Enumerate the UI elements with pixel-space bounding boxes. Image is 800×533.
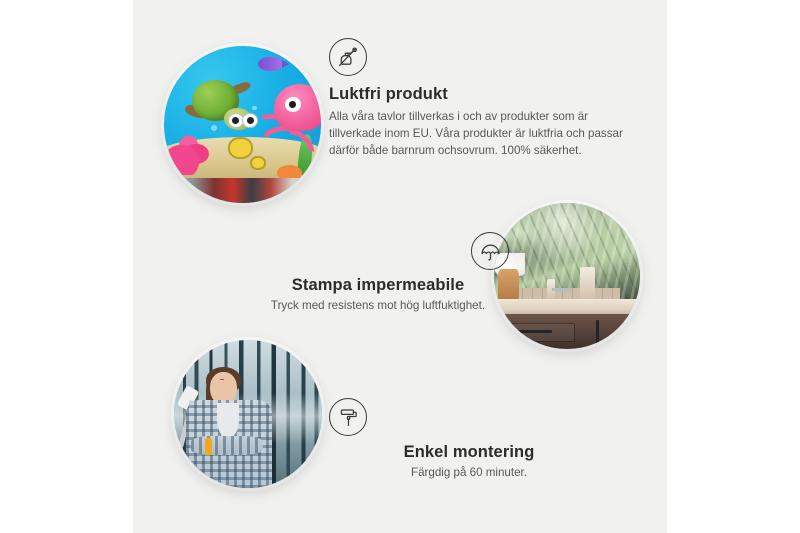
- shirt-collar: [217, 403, 239, 439]
- octopus-icon: [255, 84, 321, 156]
- woman-with-roller: [186, 370, 272, 488]
- crossed-arms: [191, 436, 263, 455]
- tool-grip: [205, 438, 212, 455]
- feature-odourless: Luktfri produkt Alla våra tavlor tillver…: [329, 38, 639, 160]
- feature-title: Stampa impermeabile: [213, 276, 543, 295]
- yellow-fish-icon: [250, 156, 266, 170]
- feature-description: Alla våra tavlor tillverkas i och av pro…: [329, 109, 639, 160]
- sea-scene-artwork: [164, 46, 321, 203]
- octopus-head: [274, 84, 321, 132]
- cabinet-handle: [596, 320, 599, 343]
- purple-fish-icon: [258, 57, 282, 71]
- feature-description: Tryck med resistens mot hög luftfuktighe…: [213, 298, 543, 315]
- product-feature-infographic: Luktfri produkt Alla våra tavlor tillver…: [0, 0, 800, 533]
- umbrella-icon: [471, 232, 509, 270]
- drawer-handle: [517, 330, 552, 333]
- paint-roller-icon: [329, 398, 367, 436]
- feature-waterproof: Stampa impermeabile Tryck med resistens …: [213, 232, 543, 315]
- smile: [220, 379, 223, 380]
- faucet: [552, 288, 570, 291]
- feature-description: Färgdig på 60 minuter.: [329, 465, 609, 482]
- yellow-fish-icon: [228, 137, 253, 159]
- photo-bottom-strip: [164, 178, 321, 203]
- feature-title: Luktfri produkt: [329, 85, 639, 104]
- feature-title: Enkel montering: [329, 443, 609, 462]
- product-photo-forest: [174, 340, 322, 488]
- infographic-canvas: Luktfri produkt Alla våra tavlor tillver…: [133, 0, 667, 533]
- feature-easy-install: Enkel montering Färgdig på 60 minuter.: [329, 398, 609, 482]
- product-photo-sea: [164, 46, 321, 203]
- no-odour-spray-icon: [329, 38, 367, 76]
- forest-artwork: [174, 340, 322, 488]
- octopus-eye: [285, 97, 301, 112]
